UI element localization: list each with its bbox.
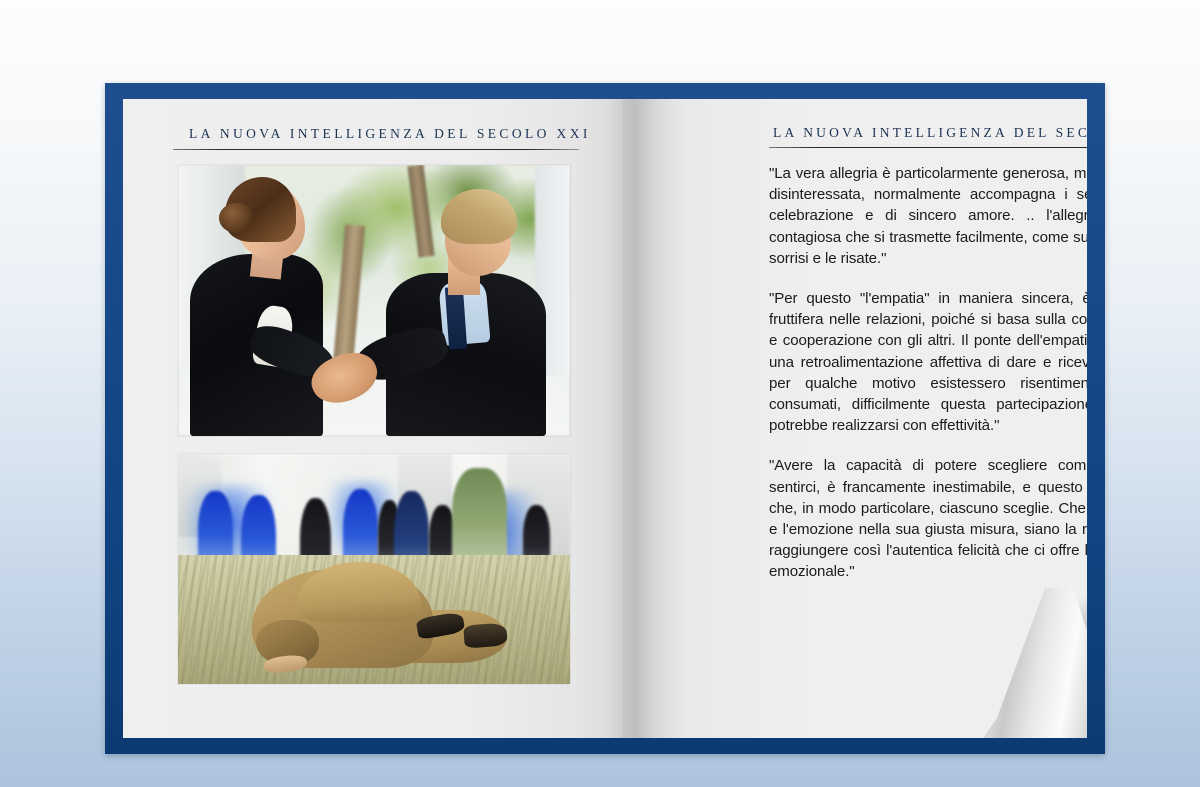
book-spread: LA NUOVA INTELLIGENZA DEL SECOLO XXI [123,99,1087,738]
page-curl-corner[interactable] [979,588,1087,738]
left-page-head-rule [173,149,579,150]
left-page: LA NUOVA INTELLIGENZA DEL SECOLO XXI [123,99,623,738]
page-curl-sheet [979,588,1087,738]
page-curl-fold [979,588,1087,738]
handshake-man-tie [444,286,466,349]
crowd-photo [178,454,570,684]
handshake-woman-hair-bun [219,203,254,233]
right-page: LA NUOVA INTELLIGENZA DEL SECOLO XXI "La… [623,99,1087,738]
paragraph-1: "La vera allegria è particolarmente gene… [769,163,1087,269]
handshake-photo [178,165,570,436]
paragraph-3: "Avere la capacità di potere scegliere c… [769,455,1087,582]
right-page-head-rule [769,147,1087,148]
right-page-running-head: LA NUOVA INTELLIGENZA DEL SECOLO XXI [773,125,1087,141]
left-page-running-head: LA NUOVA INTELLIGENZA DEL SECOLO XXI [189,126,591,142]
page-curl-shadow [979,588,1087,738]
paragraph-2: "Per questo "l'empatia" in maniera since… [769,288,1087,436]
text-column: "La vera allegria è particolarmente gene… [769,163,1087,583]
book-frame: LA NUOVA INTELLIGENZA DEL SECOLO XXI [105,83,1105,754]
